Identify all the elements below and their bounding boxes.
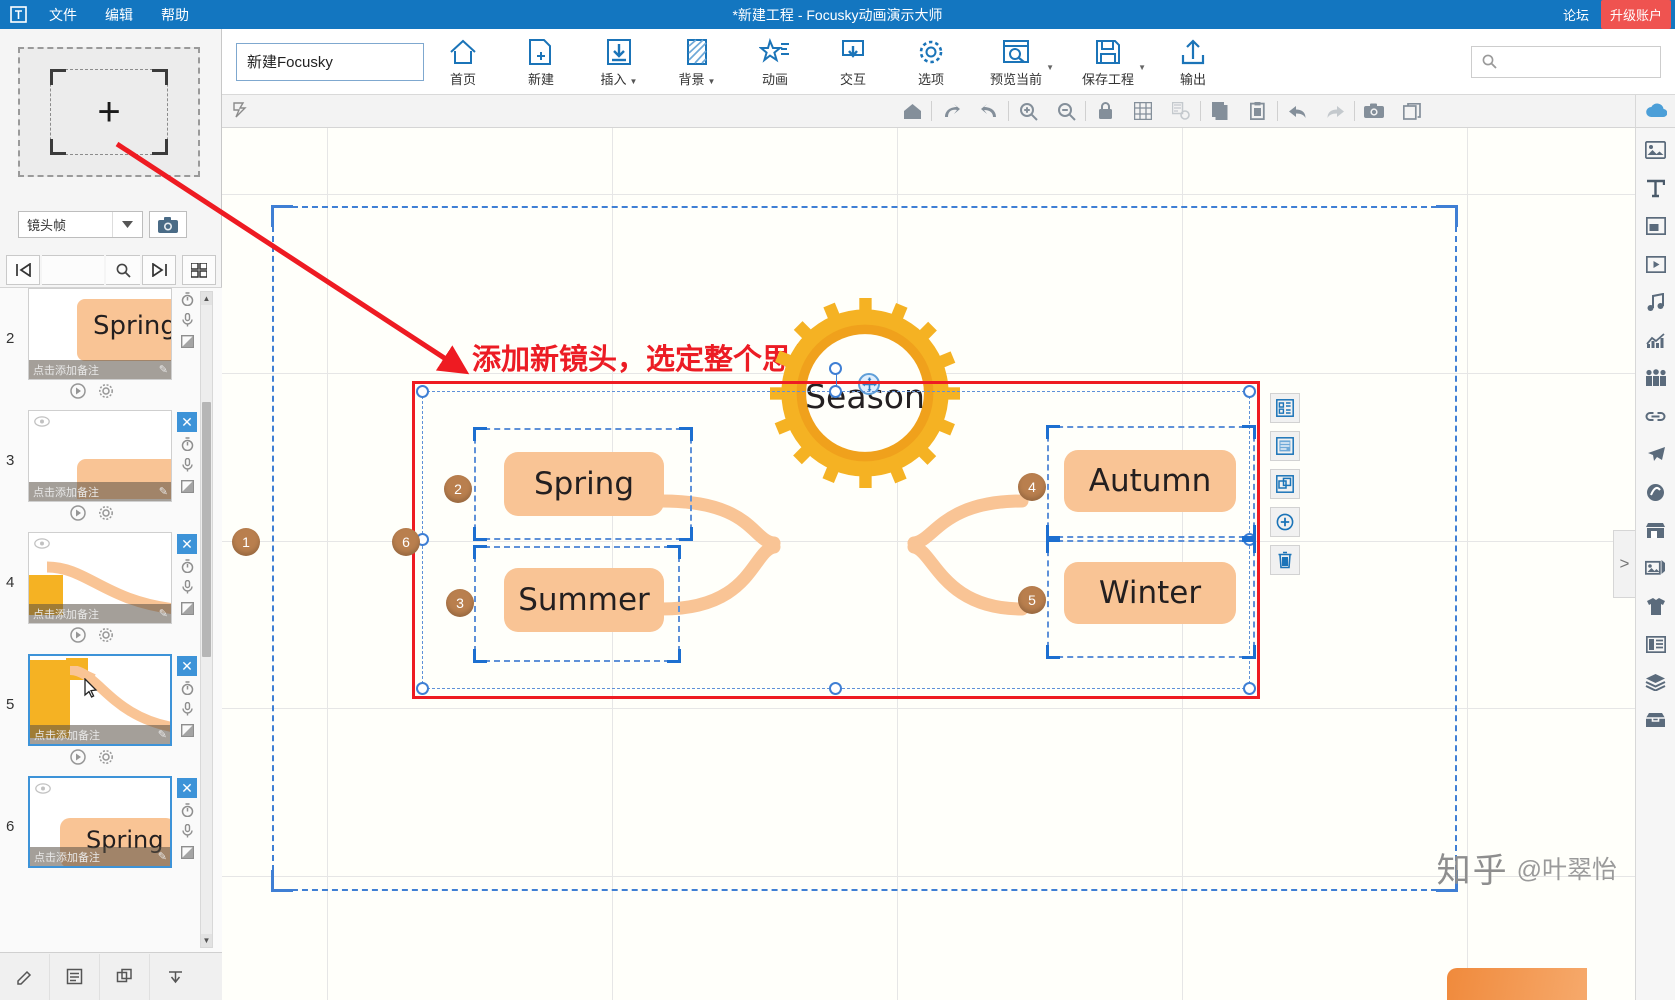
scrollbar-thumb[interactable] <box>202 402 211 657</box>
music-icon[interactable] <box>1637 283 1675 321</box>
thumb-note[interactable]: 点击添加备注✎ <box>30 725 170 744</box>
frame-icon[interactable] <box>1637 207 1675 245</box>
title-bar: 文件 编辑 帮助 *新建工程 - Focusky动画演示大师 论坛 升级账户 <box>0 0 1675 29</box>
transition-icon[interactable] <box>177 332 197 350</box>
image-icon[interactable] <box>1637 131 1675 169</box>
thumb-side-tools: ✕ <box>174 532 200 624</box>
transition-icon[interactable] <box>177 477 197 495</box>
thumb-number: 4 <box>6 574 14 591</box>
node-corner-br <box>679 527 693 541</box>
last-frame-button[interactable] <box>142 255 176 285</box>
first-frame-button[interactable] <box>6 255 40 285</box>
thumb-number: 3 <box>6 452 14 469</box>
ribbon-label: 背景 <box>679 72 705 87</box>
ribbon-button-insert[interactable]: 插入▼ <box>580 31 658 93</box>
ribbon-button-save[interactable]: 保存工程 ▼ <box>1062 31 1154 93</box>
thumbnail-card[interactable]: Spring 点击添加备注✎ <box>28 288 172 380</box>
project-name-input[interactable]: 新建Focusky <box>236 43 424 81</box>
thumb-note[interactable]: 点击添加备注✎ <box>29 360 171 379</box>
flash-icon[interactable] <box>1637 435 1675 473</box>
transition-icon[interactable] <box>177 843 197 861</box>
edit-pen-icon[interactable]: ✎ <box>158 728 167 741</box>
zoom-in-icon[interactable] <box>1009 96 1047 127</box>
ribbon-button-preview[interactable]: 预览当前 ▼ <box>970 31 1062 93</box>
node-corner-tl <box>1046 425 1060 439</box>
grid-icon[interactable] <box>1124 96 1162 127</box>
transition-icon[interactable] <box>177 599 197 617</box>
align-icon[interactable] <box>1162 96 1200 127</box>
node-order-badge-2: 2 <box>444 475 472 503</box>
node-corner-bl <box>473 527 487 541</box>
node-corner-br <box>1242 525 1256 539</box>
thumbnail-card-selected[interactable]: 点击添加备注✎ <box>28 654 172 746</box>
eye-icon[interactable] <box>34 415 50 426</box>
ribbon-label: 首页 <box>450 69 476 88</box>
list-item[interactable]: 4 点击添加备注✎ ✕ <box>0 532 222 654</box>
node-corner-tl <box>473 427 487 441</box>
node-corner-br <box>1242 645 1256 659</box>
shop-icon[interactable] <box>1637 511 1675 549</box>
thumbnail-card-selected[interactable]: Spring 点击添加备注✎ <box>28 776 172 868</box>
left-panel-footer <box>0 952 222 1000</box>
mindmap-node-winter[interactable]: Winter <box>1064 562 1236 624</box>
thumbnail-scrollbar[interactable]: ▲ ▼ <box>200 291 213 948</box>
video-icon[interactable] <box>1637 245 1675 283</box>
frame-nav-spacer <box>42 255 104 285</box>
add-frame-plus-icon[interactable]: + <box>97 92 120 132</box>
chart-icon[interactable] <box>1637 321 1675 359</box>
home-icon <box>448 36 478 66</box>
thumb-actions <box>70 749 114 765</box>
ribbon-label: 输出 <box>1180 69 1206 88</box>
duplicate-icon[interactable] <box>100 954 150 1000</box>
window-icon[interactable] <box>1393 96 1431 127</box>
edit-pen-icon[interactable]: ✎ <box>159 485 168 498</box>
window-title: *新建工程 - Focusky动画演示大师 <box>0 5 1675 25</box>
timer-icon[interactable] <box>177 679 197 697</box>
canvas[interactable]: 添加新镜头，选定整个思维导图 <box>222 128 1635 1000</box>
watermark-logo: 知乎 <box>1437 843 1509 892</box>
rotate-handle[interactable] <box>829 362 842 375</box>
thumb-number: 2 <box>6 330 14 347</box>
edit-pen-icon[interactable]: ✎ <box>159 607 168 620</box>
menu-item-edit[interactable]: 编辑 <box>91 1 147 29</box>
thumbnail-card[interactable]: 点击添加备注✎ <box>28 532 172 624</box>
gear-icon[interactable] <box>98 749 114 765</box>
timer-icon[interactable] <box>177 435 197 453</box>
resize-handle-se[interactable] <box>1243 682 1256 695</box>
thumbnail-list[interactable]: 2 Spring 点击添加备注✎ 3 <box>0 287 222 952</box>
ribbon-button-options[interactable]: 选项 <box>892 31 970 93</box>
cloud-icon <box>1645 103 1667 119</box>
timer-icon[interactable] <box>177 557 197 575</box>
thumb-note[interactable]: 点击添加备注✎ <box>29 604 171 623</box>
fit-frames-button[interactable] <box>182 255 216 285</box>
play-icon[interactable] <box>70 505 86 521</box>
menu-bar: 文件 编辑 帮助 <box>35 1 203 29</box>
duplicate-icon[interactable] <box>1270 469 1300 499</box>
layers-icon[interactable] <box>1637 663 1675 701</box>
mindmap-node-autumn[interactable]: Autumn <box>1064 450 1236 512</box>
export-upload-icon <box>1179 36 1207 66</box>
watermark-handle: @叶翠怡 <box>1517 850 1617 886</box>
ribbon-label: 保存工程 <box>1082 69 1134 88</box>
redo-icon[interactable] <box>1316 96 1354 127</box>
link-icon[interactable] <box>1637 397 1675 435</box>
resize-handle-ne[interactable] <box>1243 385 1256 398</box>
thumb-side-tools <box>174 288 200 380</box>
list-item[interactable]: 5 点击添加备注✎ ✕ <box>0 654 222 776</box>
ribbon-label: 选项 <box>918 69 944 88</box>
node-corner-tr <box>679 427 693 441</box>
text-icon[interactable] <box>1637 169 1675 207</box>
ribbon-button-home[interactable]: 首页 <box>424 31 502 93</box>
corner-handle-br <box>152 139 168 155</box>
ribbon-label: 预览当前 <box>990 69 1042 88</box>
node-corner-bl <box>1046 645 1060 659</box>
right-sidebar <box>1635 128 1675 1000</box>
lock-icon[interactable] <box>1086 96 1124 127</box>
microphone-icon[interactable] <box>177 578 197 596</box>
resize-handle-sw[interactable] <box>416 682 429 695</box>
copy-icon[interactable] <box>1201 96 1239 127</box>
thumb-note-text: 点击添加备注 <box>33 606 99 622</box>
timer-icon[interactable] <box>177 801 197 819</box>
node-order-badge-5: 5 <box>1018 586 1046 614</box>
layout-icon[interactable] <box>1637 625 1675 663</box>
thumb-side-tools: ✕ <box>174 654 200 746</box>
zoom-out-icon[interactable] <box>1047 96 1085 127</box>
capture-frame-button[interactable] <box>149 211 187 238</box>
node-corner-tr <box>1242 539 1256 553</box>
frame-corner-tr <box>1436 205 1458 227</box>
thumb-actions <box>70 505 114 521</box>
close-icon[interactable]: ✕ <box>177 778 197 798</box>
thumb-art-label: Spring <box>93 311 172 341</box>
edit-pen-icon[interactable]: ✎ <box>158 850 167 863</box>
add-circle-icon[interactable] <box>1270 507 1300 537</box>
ribbon-label: 交互 <box>840 69 866 88</box>
microphone-icon[interactable] <box>177 456 197 474</box>
frame-type-select[interactable]: 镜头帧 <box>18 211 143 238</box>
home-icon[interactable] <box>893 96 931 127</box>
object-float-toolbar <box>1270 393 1300 575</box>
resize-handle-s[interactable] <box>829 682 842 695</box>
node-order-badge-1: 1 <box>232 528 260 556</box>
thumb-number: 6 <box>6 818 14 835</box>
eye-icon[interactable] <box>34 537 50 548</box>
play-icon[interactable] <box>70 627 86 643</box>
list-item[interactable]: 3 点击添加备注✎ ✕ <box>0 410 222 532</box>
search-icon <box>1482 54 1497 69</box>
chevron-down-icon[interactable] <box>112 212 142 237</box>
background-icon <box>684 36 710 66</box>
eye-icon[interactable] <box>35 782 51 793</box>
gallery-icon[interactable] <box>1637 549 1675 587</box>
chevron-down-icon[interactable]: ▼ <box>1046 63 1054 72</box>
thumbnail-card[interactable]: 点击添加备注✎ <box>28 410 172 502</box>
save-disk-icon <box>1094 36 1122 66</box>
watermark: 知乎 @叶翠怡 <box>1437 843 1617 892</box>
gear-icon <box>917 36 945 66</box>
shape-icon[interactable] <box>1637 473 1675 511</box>
corner-handle-tl <box>50 69 66 85</box>
redo-arrow-icon[interactable] <box>932 96 970 127</box>
microphone-icon[interactable] <box>177 700 197 718</box>
ribbon-button-interaction[interactable]: 交互 <box>814 31 892 93</box>
menu-item-file[interactable]: 文件 <box>35 1 91 29</box>
ribbon-label: 插入 <box>601 72 627 87</box>
chevron-down-icon[interactable]: ▼ <box>708 77 716 86</box>
search-input[interactable] <box>1471 46 1661 78</box>
close-icon[interactable]: ✕ <box>177 656 197 676</box>
close-icon[interactable]: ✕ <box>177 534 197 554</box>
ribbon-button-new[interactable]: 新建 <box>502 31 580 93</box>
node-order-badge-4: 4 <box>1018 473 1046 501</box>
list-item[interactable]: 2 Spring 点击添加备注✎ <box>0 288 222 410</box>
transition-icon[interactable] <box>177 721 197 739</box>
chevron-down-icon[interactable]: ▼ <box>630 77 638 86</box>
interaction-hand-icon <box>839 36 867 66</box>
canvas-tool-group <box>893 96 1431 127</box>
camera-icon[interactable] <box>1355 96 1393 127</box>
node-corner-bl <box>1046 525 1060 539</box>
cloud-sync-button[interactable] <box>1635 95 1675 128</box>
svg-icon[interactable] <box>1270 431 1300 461</box>
close-icon[interactable]: ✕ <box>177 412 197 432</box>
gridline-h <box>222 194 1635 195</box>
frame-corner-tl <box>271 205 293 227</box>
thumb-actions <box>70 627 114 643</box>
edit-icon[interactable] <box>0 954 50 1000</box>
frame-corner-bl <box>271 870 293 892</box>
app-logo-icon <box>5 4 31 26</box>
undo-arrow-icon[interactable] <box>970 96 1008 127</box>
ribbon-toolbar: 新建Focusky 首页 新建 插入▼ 背景▼ 动画 交互 选项 <box>222 29 1675 95</box>
frame-type-value: 镜头帧 <box>19 215 112 234</box>
gear-icon[interactable] <box>98 627 114 643</box>
shirt-icon[interactable] <box>1637 587 1675 625</box>
frame-nav-toolbar <box>6 254 216 286</box>
ribbon-label: 新建 <box>528 69 554 88</box>
frame-marker-icon[interactable] <box>232 101 248 121</box>
corner-handle-tr <box>152 69 168 85</box>
edit-pen-icon[interactable]: ✎ <box>159 363 168 376</box>
add-frame-preview[interactable]: + <box>18 47 200 177</box>
main-area: + 镜头帧 <box>0 29 1675 1000</box>
resize-handle-nw[interactable] <box>416 385 429 398</box>
scroll-up-arrow[interactable]: ▲ <box>201 292 212 305</box>
thumb-note[interactable]: 点击添加备注✎ <box>29 482 171 501</box>
resize-handle-n[interactable] <box>829 385 842 398</box>
trash-icon[interactable] <box>1270 545 1300 575</box>
microphone-icon[interactable] <box>177 311 197 329</box>
mindmap-node-summer[interactable]: Summer <box>504 568 664 632</box>
thumb-note-text: 点击添加备注 <box>33 484 99 500</box>
preview-icon <box>1002 36 1030 66</box>
node-corner-tl <box>1046 539 1060 553</box>
thumb-note[interactable]: 点击添加备注✎ <box>30 847 170 866</box>
microphone-icon[interactable] <box>177 822 197 840</box>
thumb-side-tools: ✕ <box>174 410 200 502</box>
canvas-toolbar <box>222 95 1675 128</box>
frame-controls: 镜头帧 <box>18 211 187 238</box>
animation-star-icon <box>759 36 791 66</box>
thumb-note-text: 点击添加备注 <box>33 362 99 378</box>
gear-icon[interactable] <box>98 383 114 399</box>
menu-item-help[interactable]: 帮助 <box>147 1 203 29</box>
node-corner-bl <box>473 649 487 663</box>
cursor-icon <box>84 678 99 698</box>
paste-icon[interactable] <box>1239 96 1277 127</box>
scroll-down-arrow[interactable]: ▼ <box>201 934 212 947</box>
play-icon[interactable] <box>70 749 86 765</box>
node-order-badge-3: 3 <box>446 589 474 617</box>
insert-icon <box>605 36 633 66</box>
zoom-frames-button[interactable] <box>106 255 140 285</box>
thumb-number: 5 <box>6 696 14 713</box>
mindmap-node-spring[interactable]: Spring <box>504 452 664 516</box>
ribbon-button-animation[interactable]: 动画 <box>736 31 814 93</box>
upgrade-account-button[interactable]: 升级账户 <box>1601 0 1671 29</box>
node-order-badge-6: 6 <box>392 528 420 556</box>
ribbon-button-background[interactable]: 背景▼ <box>658 31 736 93</box>
thumb-note-text: 点击添加备注 <box>34 849 100 865</box>
gear-icon[interactable] <box>98 505 114 521</box>
corner-handle-bl <box>50 139 66 155</box>
ribbon-label: 动画 <box>762 69 788 88</box>
thumb-actions <box>70 383 114 399</box>
notes-icon[interactable] <box>50 954 100 1000</box>
convert-icon[interactable] <box>1270 393 1300 423</box>
node-corner-tl <box>473 545 487 559</box>
list-item[interactable]: 6 Spring 点击添加备注✎ ✕ <box>0 776 222 898</box>
chevron-down-icon[interactable]: ▼ <box>1138 63 1146 72</box>
forum-link[interactable]: 论坛 <box>1551 5 1601 24</box>
timer-icon[interactable] <box>177 290 197 308</box>
node-corner-tr <box>1242 425 1256 439</box>
box-icon[interactable] <box>1637 701 1675 739</box>
left-panel: + 镜头帧 <box>0 29 222 1000</box>
new-page-icon <box>527 36 555 66</box>
thumb-side-tools: ✕ <box>174 776 200 868</box>
node-corner-br <box>667 649 681 663</box>
people-icon[interactable] <box>1637 359 1675 397</box>
thumb-note-text: 点击添加备注 <box>34 727 100 743</box>
canvas-expand-button[interactable]: > <box>1613 530 1635 598</box>
titlebar-right: 论坛 升级账户 <box>1551 0 1675 29</box>
decorative-shape <box>1447 968 1587 1000</box>
ribbon-button-export[interactable]: 输出 <box>1154 31 1232 93</box>
unknown-icon[interactable] <box>150 954 200 1000</box>
play-icon[interactable] <box>70 383 86 399</box>
undo-icon[interactable] <box>1278 96 1316 127</box>
node-corner-tr <box>667 545 681 559</box>
camera-icon <box>158 217 178 233</box>
